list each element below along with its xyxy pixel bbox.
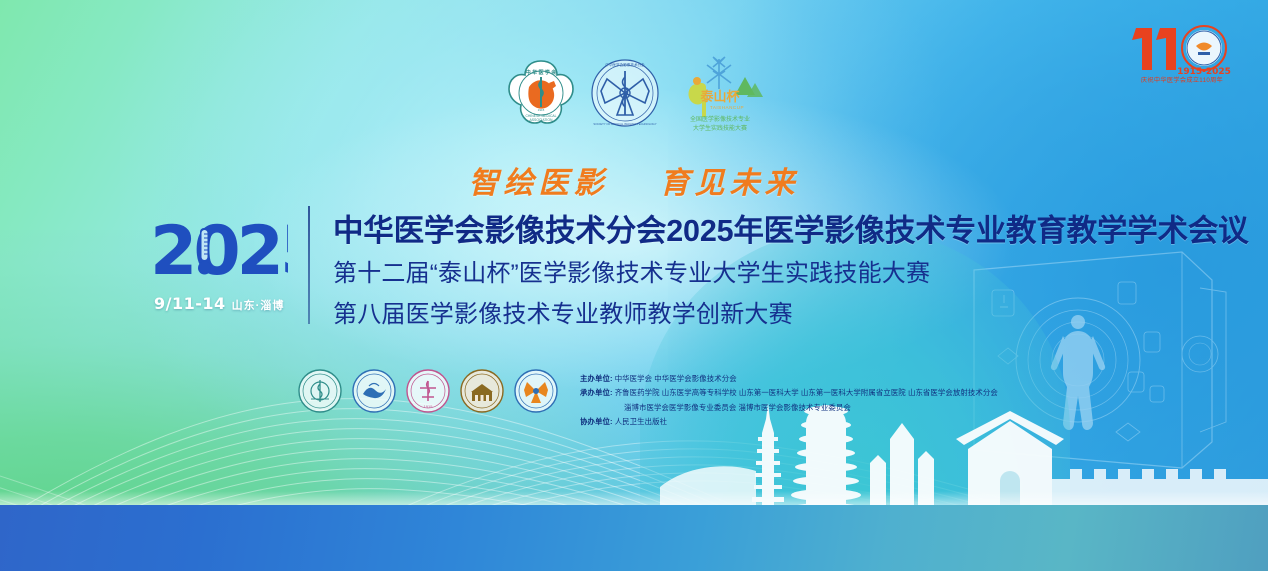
svg-text:1915: 1915 bbox=[424, 404, 434, 409]
seal-radiology-society bbox=[513, 368, 559, 414]
svg-text:泰山杯: 泰山杯 bbox=[699, 89, 740, 105]
svg-text:中华医学会影像技术分会: 中华医学会影像技术分会 bbox=[605, 62, 645, 67]
imaging-technology-branch-logo: 中华医学会影像技术分会 SOCIETY OF MEDICAL IMAGING T… bbox=[589, 57, 661, 129]
year-2025-graphic: 2025 bbox=[148, 208, 288, 286]
top-logos-row: 中 华 医 学 会 CHINESE MEDICAL ASSOCIATION 19… bbox=[505, 48, 775, 138]
slogan-left: 智绘医影 bbox=[469, 167, 609, 200]
organizer-cohost-label: 承办单位: bbox=[580, 388, 613, 397]
svg-text:SOCIETY OF MEDICAL IMAGING TEC: SOCIETY OF MEDICAL IMAGING TECHNOLOGY bbox=[593, 122, 656, 126]
date-range: 9/11-14 bbox=[154, 294, 226, 313]
organizer-cohost-row: 承办单位: 齐鲁医药学院 山东医学高等专科学校 山东第一医科大学 山东第一医科大… bbox=[580, 386, 1000, 400]
organizer-block: 主办单位: 中华医学会 中华医学会影像技术分会 承办单位: 齐鲁医药学院 山东医… bbox=[580, 372, 1000, 430]
sub-title-2: 第八届医学影像技术专业教师教学创新大赛 bbox=[333, 298, 1183, 332]
slogan-right: 育见未来 bbox=[660, 167, 800, 200]
organizer-host-label: 主办单位: bbox=[580, 374, 613, 383]
sub-title-1: 第十二届“泰山杯”医学影像技术专业大学生实践技能大赛 bbox=[333, 257, 1183, 291]
slogan: 智绘医影 育见未来 bbox=[0, 158, 1268, 202]
seal-shandong-first-medical-university: 1915 bbox=[405, 368, 451, 414]
human-body-figure bbox=[1051, 315, 1105, 430]
year-2025-text: 2025 bbox=[150, 212, 288, 286]
organizer-host-value: 中华医学会 中华医学会影像技术分会 bbox=[615, 374, 737, 383]
seal-provincial-hospital bbox=[459, 368, 505, 414]
skyline-fade bbox=[0, 491, 1268, 505]
date-line: 9/11-14 山东·淄博 bbox=[154, 294, 284, 313]
taishan-cup-logo: 泰山杯 TAISHANCUP 全国医学影像技术专业 大学生实践技能大赛 bbox=[673, 51, 767, 135]
main-title: 中华医学会影像技术分会2025年医学影像技术专业教育教学学术会议 bbox=[333, 214, 1183, 250]
organizer-cohost-row-2: 淄博市医学会医学影像专业委员会 淄博市医学会影像技术专业委员会 bbox=[580, 401, 1000, 415]
title-divider bbox=[308, 206, 310, 324]
organizer-support-value: 人民卫生出版社 bbox=[615, 417, 667, 426]
date-block: 2025 9/11-14 山东·淄博 bbox=[148, 208, 298, 326]
seal-qilu-medical-university bbox=[297, 368, 343, 414]
svg-text:ASSOCIATION: ASSOCIATION bbox=[530, 118, 553, 122]
decorative-waves bbox=[0, 331, 1268, 571]
anniversary-logo: 1915-2025 庆祝中华医学会成立110周年 bbox=[1112, 12, 1252, 84]
chinese-medical-association-logo: 中 华 医 学 会 CHINESE MEDICAL ASSOCIATION 19… bbox=[505, 57, 577, 129]
svg-text:大学生实践技能大赛: 大学生实践技能大赛 bbox=[693, 124, 747, 132]
organizer-support-row: 协办单位: 人民卫生出版社 bbox=[580, 415, 1000, 429]
svg-text:TAISHANCUP: TAISHANCUP bbox=[710, 105, 744, 110]
organizer-support-label: 协办单位: bbox=[580, 417, 613, 426]
anniversary-110-icon: 1915-2025 bbox=[1112, 12, 1252, 84]
institution-seals: 1915 bbox=[297, 368, 559, 414]
conference-banner: 1915-2025 庆祝中华医学会成立110周年 中 华 医 学 会 CHINE… bbox=[0, 0, 1268, 571]
svg-text:中 华 医 学 会: 中 华 医 学 会 bbox=[526, 69, 557, 76]
organizer-host-row: 主办单位: 中华医学会 中华医学会影像技术分会 bbox=[580, 372, 1000, 386]
organizer-cohost-value: 齐鲁医药学院 山东医学高等专科学校 山东第一医科大学 山东第一医科大学附属省立医… bbox=[615, 388, 998, 397]
organizer-cohost-value-2: 淄博市医学会医学影像专业委员会 淄博市医学会影像技术专业委员会 bbox=[624, 403, 851, 412]
date-city: 山东·淄博 bbox=[232, 297, 285, 313]
seal-shandong-medical-college bbox=[351, 368, 397, 414]
title-group: 中华医学会影像技术分会2025年医学影像技术专业教育教学学术会议 第十二届“泰山… bbox=[333, 214, 1183, 332]
svg-text:全国医学影像技术专业: 全国医学影像技术专业 bbox=[690, 115, 750, 123]
svg-text:1915: 1915 bbox=[538, 108, 545, 112]
bottom-blue-strip bbox=[0, 505, 1268, 571]
anniversary-caption: 庆祝中华医学会成立110周年 bbox=[1112, 75, 1252, 84]
